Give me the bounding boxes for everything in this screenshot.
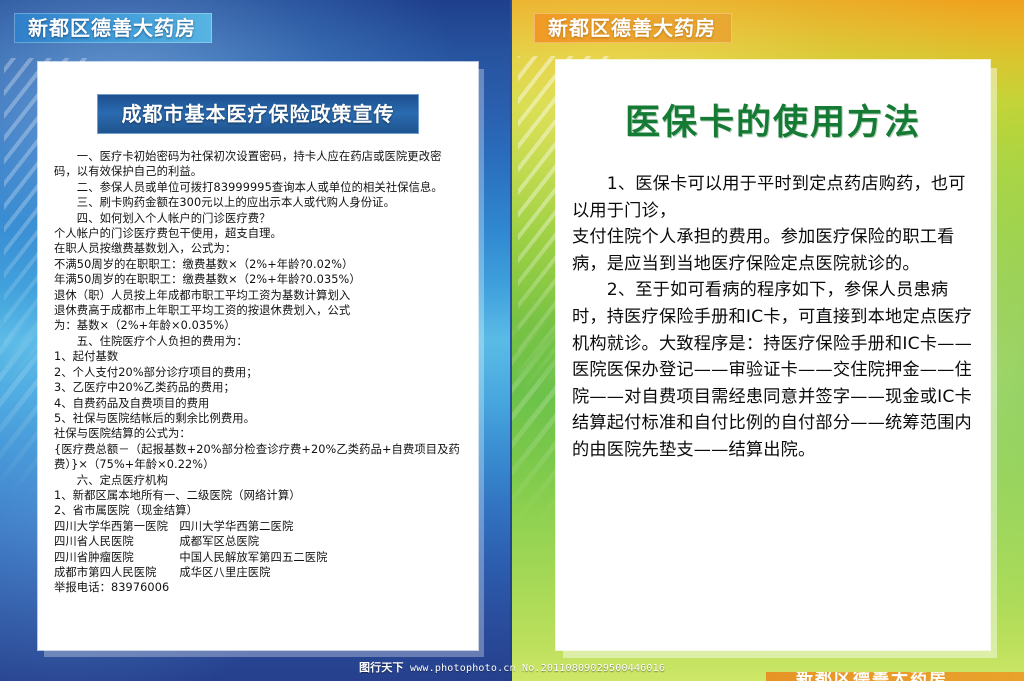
poster-canvas: 新都区德善大药房 成都市基本医疗保险政策宣传 一、医疗卡初始密码为社保初次设置密… xyxy=(0,0,1024,681)
left-paragraph: 举报电话：83976006 xyxy=(54,580,462,595)
left-paragraph: 3、乙医疗中20%乙类药品的费用； xyxy=(54,380,462,395)
left-paragraph: 四川大学华西第一医院 四川大学华西第二医院 xyxy=(54,519,462,534)
left-shop-name-banner: 新都区德善大药房 xyxy=(14,13,212,43)
left-content-card: 成都市基本医疗保险政策宣传 一、医疗卡初始密码为社保初次设置密码，持卡人应在药店… xyxy=(38,62,478,650)
left-paragraph: 退休（职）人员按上年成都市职工平均工资为基数计算划入 xyxy=(54,288,462,303)
left-paragraph: 不满50周岁的在职职工：缴费基数×（2%+年龄?0.02%） xyxy=(54,257,462,272)
right-paragraph: 2、至于如可看病的程序如下，参保人员患病时，持医疗保险手册和IC卡，可直接到本地… xyxy=(572,277,976,463)
bottom-cropped-banner-text: 新都区德善大药房 xyxy=(766,672,1024,681)
right-panel: 新都区德善大药房 医保卡的使用方法 1、医保卡可以用于平时到定点药店购药，也可以… xyxy=(512,0,1024,681)
left-paragraph: 5、社保与医院结帐后的剩余比例费用。 xyxy=(54,411,462,426)
left-paragraph: 1、起付基数 xyxy=(54,349,462,364)
bottom-cropped-orange-banner: 新都区德善大药房 xyxy=(766,672,1024,681)
left-paragraph: 一、医疗卡初始密码为社保初次设置密码，持卡人应在药店或医院更改密码，以有效保护自… xyxy=(54,149,462,180)
left-paragraph: 个人帐户的门诊医疗费包干使用，超支自理。 xyxy=(54,226,462,241)
left-paragraph: 四川省人民医院 成都军区总医院 xyxy=(54,534,462,549)
right-paragraph: 支付住院个人承担的费用。参加医疗保险的职工看病，是应当到当地医疗保险定点医院就诊… xyxy=(572,224,976,277)
left-panel-title: 成都市基本医疗保险政策宣传 xyxy=(98,95,418,133)
right-panel-title: 医保卡的使用方法 xyxy=(556,94,990,145)
left-paragraph: 2、省市属医院（现金结算） xyxy=(54,503,462,518)
left-panel: 新都区德善大药房 成都市基本医疗保险政策宣传 一、医疗卡初始密码为社保初次设置密… xyxy=(0,0,512,681)
left-paragraph: 六、定点医疗机构 xyxy=(54,473,462,488)
right-content-card: 医保卡的使用方法 1、医保卡可以用于平时到定点药店购药，也可以用于门诊，支付住院… xyxy=(556,60,990,650)
left-paragraph: 退休费高于成都市上年职工平均工资的按退休费划入，公式 xyxy=(54,303,462,318)
left-paragraph: 三、刷卡购药金额在300元以上的应出示本人或代购人身份证。 xyxy=(54,195,462,210)
left-paragraph: 1、新都区属本地所有一、二级医院（网络计算） xyxy=(54,488,462,503)
left-paragraph: 2、个人支付20%部分诊疗项目的费用； xyxy=(54,365,462,380)
watermark-site: www.photophoto.cn xyxy=(410,663,516,674)
left-paragraph: {医疗费总额－（起报基数+20%部分检查诊疗费+20%乙类药品+自费项目及药费）… xyxy=(54,442,462,473)
left-panel-body-text: 一、医疗卡初始密码为社保初次设置密码，持卡人应在药店或医院更改密码，以有效保护自… xyxy=(54,149,462,596)
watermark-number: No.20110809029500446016 xyxy=(522,663,665,674)
left-paragraph: 4、自费药品及自费项目的费用 xyxy=(54,396,462,411)
left-paragraph: 社保与医院结算的公式为： xyxy=(54,426,462,441)
left-paragraph: 年满50周岁的在职职工：缴费基数×（2%+年龄?0.035%） xyxy=(54,272,462,287)
left-paragraph: 在职人员按缴费基数划入，公式为： xyxy=(54,241,462,256)
right-shop-name-banner: 新都区德善大药房 xyxy=(534,13,732,43)
right-paragraph: 1、医保卡可以用于平时到定点药店购药，也可以用于门诊， xyxy=(572,171,976,224)
left-paragraph: 为：基数×（2%+年龄×0.035%） xyxy=(54,318,462,333)
left-paragraph: 四、如何划入个人帐户的门诊医疗费？ xyxy=(54,211,462,226)
left-paragraph: 成都市第四人民医院 成华区八里庄医院 xyxy=(54,565,462,580)
left-paragraph: 五、住院医疗个人负担的费用为： xyxy=(54,334,462,349)
right-panel-body-text: 1、医保卡可以用于平时到定点药店购药，也可以用于门诊，支付住院个人承担的费用。参… xyxy=(572,171,976,464)
left-paragraph: 二、参保人员或单位可拨打83999995查询本人或单位的相关社保信息。 xyxy=(54,180,462,195)
left-paragraph: 四川省肿瘤医院 中国人民解放军第四五二医院 xyxy=(54,550,462,565)
watermark-brand: 图行天下 xyxy=(359,661,404,674)
